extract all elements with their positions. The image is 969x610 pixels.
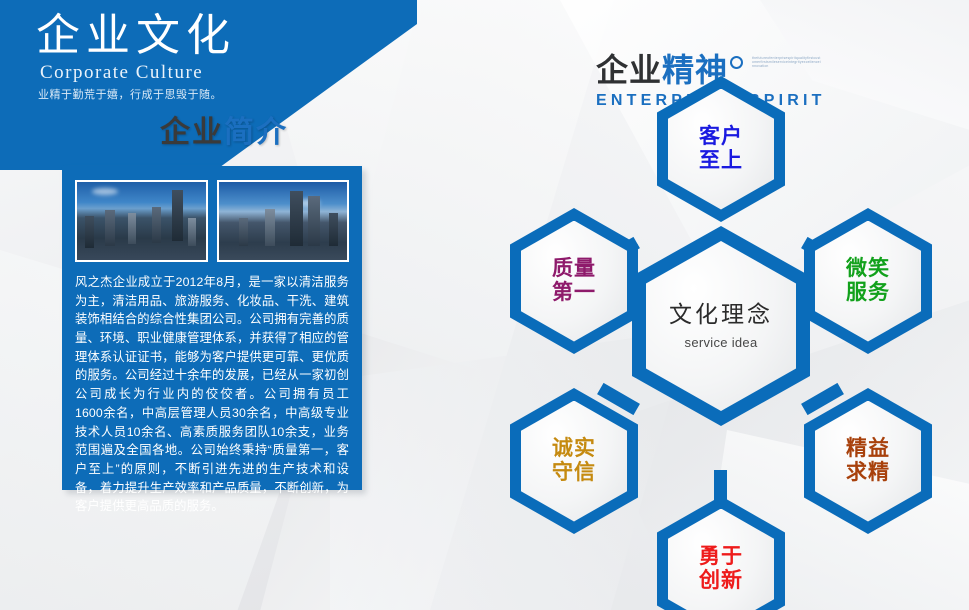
hex-label: 微笑 服务 — [804, 208, 932, 354]
hex-center-label: 文化理念 service idea — [632, 226, 810, 426]
hex-label: 质量 第一 — [510, 208, 638, 354]
hex-label-line2: 创新 — [699, 569, 743, 593]
hex-node-excellence[interactable]: 精益 求精 — [804, 388, 932, 534]
intro-title-dark: 企业 — [160, 116, 224, 149]
hex-label-line1: 精益 — [846, 437, 890, 461]
hex-label-line1: 诚实 — [552, 437, 596, 461]
hex-label-line2: 守信 — [552, 461, 596, 485]
hex-label: 勇于 创新 — [657, 496, 785, 610]
hex-label: 客户 至上 — [657, 76, 785, 222]
city-skyline-photo-1 — [75, 180, 208, 262]
hex-center-culture-idea[interactable]: 文化理念 service idea — [632, 226, 810, 426]
banner-title-en: Corporate Culture — [40, 62, 203, 84]
hex-label: 诚实 守信 — [510, 388, 638, 534]
hex-node-customer-first[interactable]: 客户 至上 — [657, 76, 785, 222]
company-intro-body: 风之杰企业成立于2012年8月，是一家以清洁服务为主，清洁用品、旅游服务、化妆品… — [75, 273, 349, 516]
company-intro-title: 企业简介 — [160, 118, 288, 148]
banner-title-cn: 企业文化 — [36, 14, 236, 58]
hex-label-line2: 求精 — [846, 461, 890, 485]
culture-hexagon-diagram: 文化理念 service idea 客户 至上 质量 第一 — [492, 100, 962, 600]
hex-label-line1: 微笑 — [846, 257, 890, 281]
intro-photo-row — [75, 180, 349, 262]
banner-subtitle: 业精于勤荒于嬉，行成于思毁于随。 — [38, 86, 222, 102]
hex-center-label-cn: 文化理念 — [669, 301, 773, 327]
hex-label-line1: 勇于 — [699, 545, 743, 569]
hex-center-label-en: service idea — [685, 336, 758, 351]
spirit-title-dark: 企业 — [596, 52, 662, 88]
hex-node-innovation[interactable]: 勇于 创新 — [657, 496, 785, 610]
hex-node-smile-service[interactable]: 微笑 服务 — [804, 208, 932, 354]
company-intro-card: 风之杰企业成立于2012年8月，是一家以清洁服务为主，清洁用品、旅游服务、化妆品… — [62, 166, 362, 490]
hex-node-quality-first[interactable]: 质量 第一 — [510, 208, 638, 354]
decorative-circle-icon — [730, 56, 743, 69]
poster-canvas: 企业文化 Corporate Culture 业精于勤荒于嬉，行成于思毁于随。 … — [0, 0, 969, 610]
hex-label-line2: 服务 — [846, 281, 890, 305]
city-towers-photo-2 — [217, 180, 350, 262]
hex-label-line1: 质量 — [552, 257, 596, 281]
hex-label: 精益 求精 — [804, 388, 932, 534]
hex-label-line2: 第一 — [552, 281, 596, 305]
hex-label-line1: 客户 — [699, 125, 743, 149]
hex-node-integrity[interactable]: 诚实 守信 — [510, 388, 638, 534]
hex-label-line2: 至上 — [699, 149, 743, 173]
intro-title-blue: 简介 — [224, 116, 288, 149]
